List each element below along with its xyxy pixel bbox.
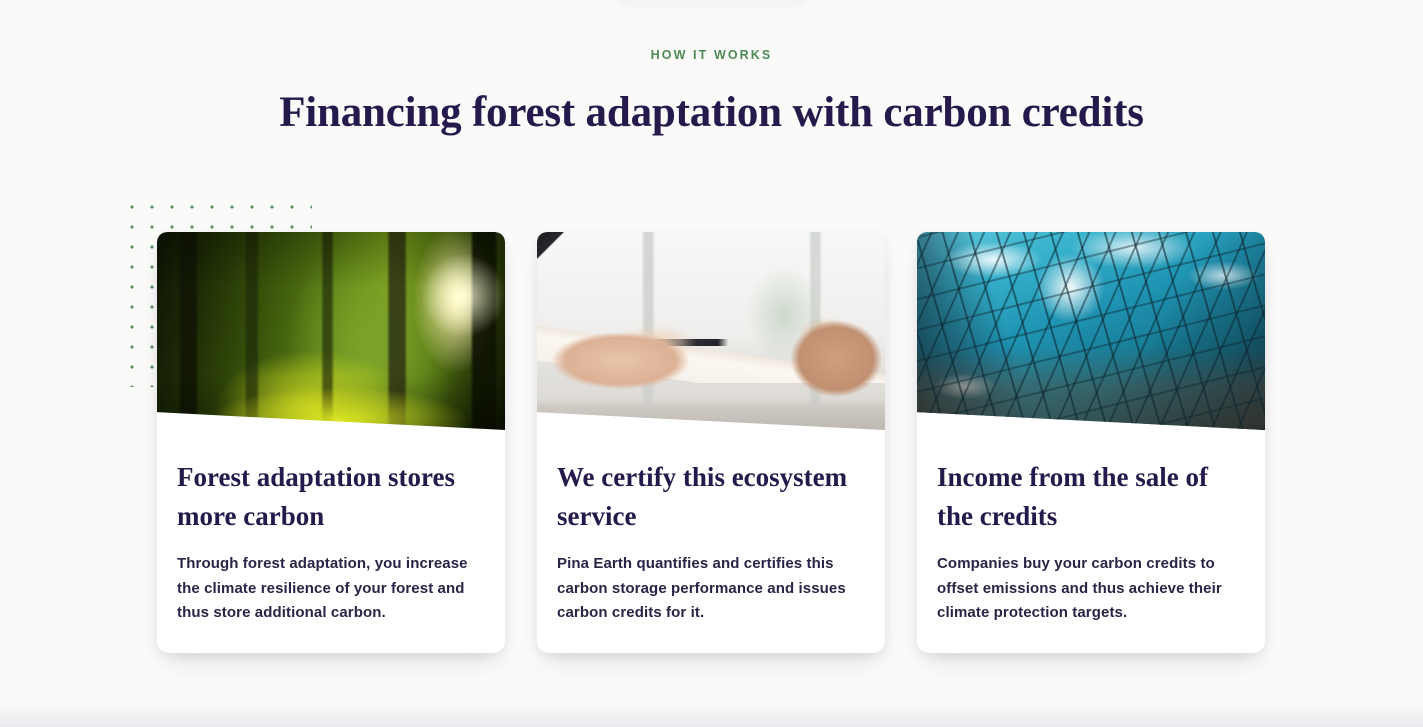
card-body: We certify this ecosystem service Pina E… (537, 430, 885, 625)
card-media (157, 232, 505, 430)
card-description: Companies buy your carbon credits to off… (937, 552, 1245, 625)
card-description: Through forest adaptation, you increase … (177, 552, 485, 625)
card-title: Forest adaptation stores more carbon (177, 458, 485, 536)
card-certification[interactable]: We certify this ecosystem service Pina E… (537, 232, 885, 653)
document-signing-photo (537, 232, 885, 430)
card-title: We certify this ecosystem service (557, 458, 865, 536)
card-body: Income from the sale of the credits Comp… (917, 430, 1265, 625)
card-income-from-credits[interactable]: Income from the sale of the credits Comp… (917, 232, 1265, 653)
card-forest-adaptation[interactable]: Forest adaptation stores more carbon Thr… (157, 232, 505, 653)
section-above-sliver (617, 0, 807, 8)
card-title: Income from the sale of the credits (937, 458, 1245, 536)
card-body: Forest adaptation stores more carbon Thr… (157, 430, 505, 625)
sunlit-forest-photo (157, 232, 505, 430)
section-eyebrow: HOW IT WORKS (0, 48, 1423, 62)
section-divider-band (0, 705, 1423, 727)
card-media (537, 232, 885, 430)
page-title: Financing forest adaptation with carbon … (0, 88, 1423, 137)
glass-skyscrapers-photo (917, 232, 1265, 430)
card-media (917, 232, 1265, 430)
how-it-works-card-list: Forest adaptation stores more carbon Thr… (157, 232, 1266, 653)
card-description: Pina Earth quantifies and certifies this… (557, 552, 865, 625)
